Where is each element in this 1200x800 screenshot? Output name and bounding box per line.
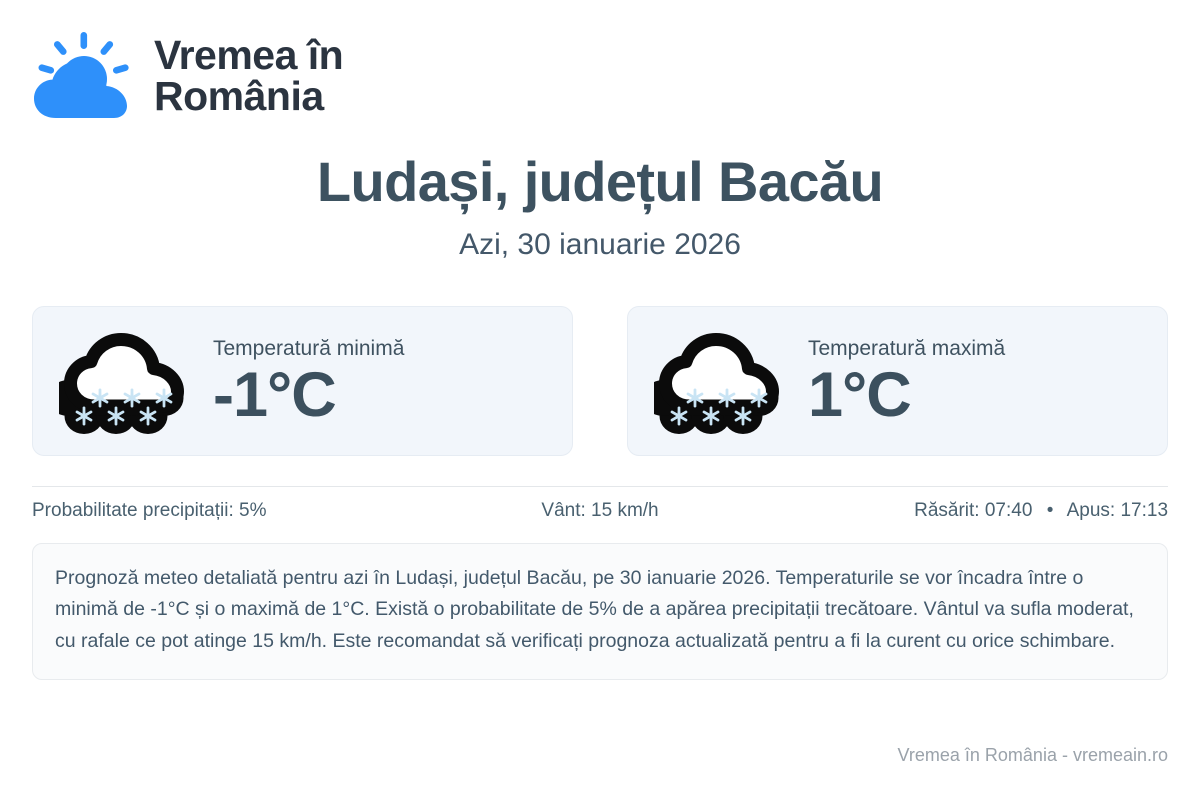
sun-times-separator: • — [1038, 500, 1063, 522]
weather-stats-row: Probabilitate precipitații: 5% Vânt: 15 … — [32, 487, 1168, 535]
sun-behind-cloud-icon — [32, 32, 136, 120]
page-subtitle: Azi, 30 ianuarie 2026 — [32, 212, 1168, 262]
snow-cloud-icon — [59, 325, 191, 437]
sun-times-stat: Răsărit: 07:40 • Apus: 17:13 — [789, 500, 1168, 522]
brand-header: Vremea în România — [32, 0, 1168, 105]
card-max-temperature: Temperatură maximă 1°C — [627, 306, 1168, 456]
sunset-value: Apus: 17:13 — [1067, 500, 1168, 521]
max-temperature-label: Temperatură maximă — [808, 336, 1005, 361]
temperature-cards: Temperatură minimă -1°C — [32, 306, 1168, 456]
forecast-description: Prognoză meteo detaliată pentru azi în L… — [32, 543, 1168, 680]
card-body: Temperatură maximă 1°C — [808, 334, 1005, 427]
snow-cloud-icon — [654, 325, 786, 437]
precipitation-stat: Probabilitate precipitații: 5% — [32, 500, 411, 522]
wind-stat: Vânt: 15 km/h — [411, 500, 790, 522]
footer-credit: Vremea în România - vremeain.ro — [898, 745, 1168, 766]
min-temperature-value: -1°C — [213, 363, 404, 427]
weather-page: Vremea în România Ludași, județul Bacău … — [0, 0, 1200, 800]
card-body: Temperatură minimă -1°C — [213, 334, 404, 427]
page-title: Ludași, județul Bacău — [32, 105, 1168, 212]
sunrise-value: Răsărit: 07:40 — [914, 500, 1032, 521]
card-min-temperature: Temperatură minimă -1°C — [32, 306, 573, 456]
brand-name: Vremea în România — [154, 35, 343, 116]
min-temperature-label: Temperatură minimă — [213, 336, 404, 361]
max-temperature-value: 1°C — [808, 363, 1005, 427]
